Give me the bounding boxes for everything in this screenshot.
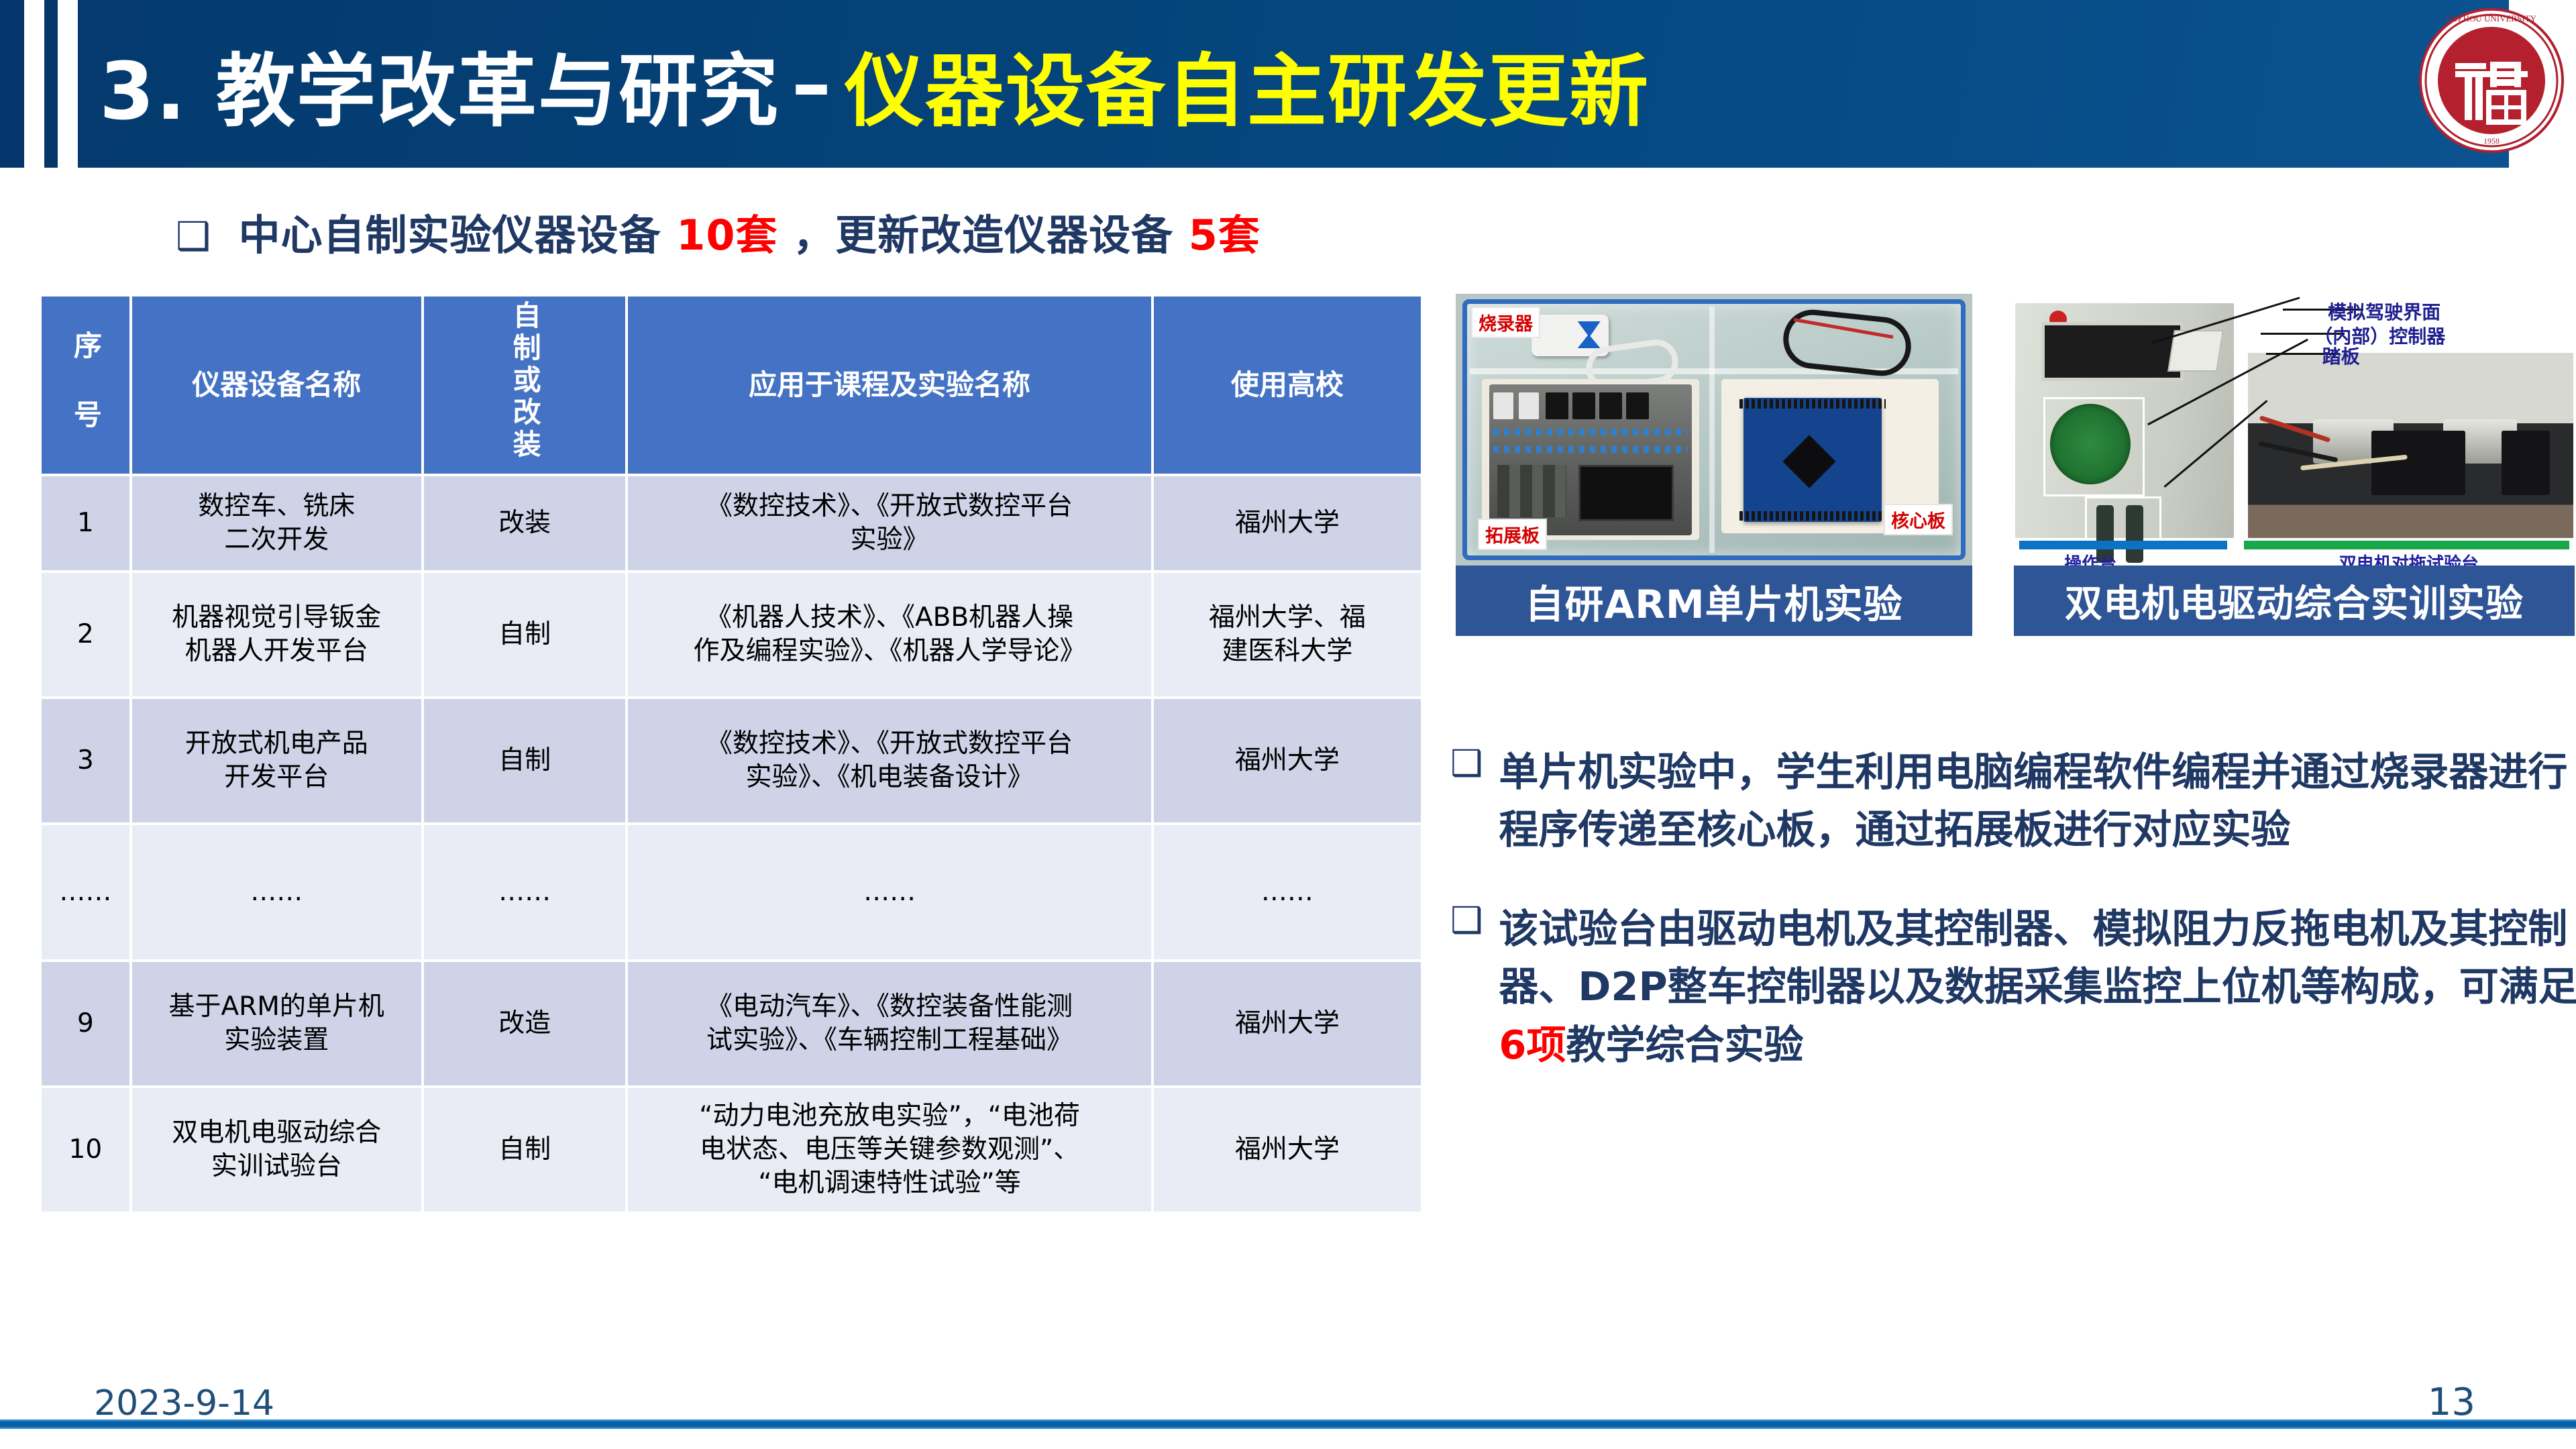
- figure-caption: 自研ARM单片机实验: [1456, 566, 1972, 636]
- slide-subheading: ❑ 中心自制实验仪器设备 10套 ，更新改造仪器设备 5套: [176, 201, 1260, 262]
- bullet-square-icon: ❑: [176, 213, 211, 259]
- cell-type: 自制: [424, 699, 626, 822]
- table-row: 10 双电机电驱动综合 实训试验台 自制 “动力电池充放电实验”，“电池荷 电状…: [42, 1088, 1421, 1212]
- svg-text:1958: 1958: [2483, 136, 2500, 146]
- led-row: [1493, 446, 1688, 453]
- console-underline-bar: [2019, 541, 2226, 549]
- seven-segment-display: [1519, 392, 1539, 419]
- bullet-text: 该试验台由驱动电机及其控制器、模拟阻力反拖电机及其控制器、D2P整车控制器以及数…: [1499, 900, 2576, 1073]
- cell-school: 福州大学: [1154, 962, 1421, 1085]
- cell-no: ……: [42, 825, 129, 959]
- cell-no: 3: [42, 699, 129, 822]
- title-topic: 仪器设备自主研发更新: [845, 27, 1650, 142]
- sublabel-bench: 双电机对拖试验台: [2339, 550, 2479, 566]
- case-divider: [1709, 307, 1715, 553]
- column-header-no: 序 号: [42, 297, 129, 474]
- figure-caption: 双电机电驱动综合实训实验: [2014, 566, 2575, 636]
- label-core-board: 核心板: [1884, 504, 1953, 535]
- seven-segment-display: [1626, 392, 1649, 419]
- cell-no: 1: [42, 476, 129, 570]
- footer-date: 2023-9-14: [94, 1383, 274, 1424]
- core-board: [1743, 398, 1882, 522]
- bullet-text-highlight: 6项: [1499, 1022, 1566, 1068]
- page-title: 3. 教学改革与研究 – 仪器设备自主研发更新: [99, 20, 2380, 148]
- bullet-text-main: 单片机实验中，学生利用电脑编程软件编程并通过烧录器进行程序传递至核心板，通过拓展…: [1499, 749, 2567, 853]
- operator-console: [2015, 303, 2234, 538]
- cell-school: 福州大学: [1154, 699, 1421, 822]
- table-row: 2 机器视觉引导钣金 机器人开发平台 自制 《机器人技术》、《ABB机器人操 作…: [42, 573, 1421, 696]
- label-programmer: 烧录器: [1471, 307, 1540, 338]
- fuzhou-university-logo-icon: FUZHOU UNIVERSITY 1958: [2416, 5, 2567, 158]
- coupling-flange: [2371, 431, 2420, 495]
- cell-school: 福州大学: [1154, 1088, 1421, 1212]
- cell-name: 双电机电驱动综合 实训试验台: [132, 1088, 421, 1212]
- cell-school: ……: [1154, 825, 1421, 959]
- cell-course: 《数控技术》、《开放式数控平台 实验》、《机电装备设计》: [628, 699, 1150, 822]
- cell-course: 《机器人技术》、《ABB机器人操 作及编程实验》、《机器人学导论》: [628, 573, 1150, 696]
- cell-no: 2: [42, 573, 129, 696]
- hmi-touch-screen: [2041, 322, 2184, 381]
- table-row-ellipsis: …… …… …… …… ……: [42, 825, 1421, 959]
- svg-text:FUZHOU UNIVERSITY: FUZHOU UNIVERSITY: [2447, 13, 2537, 23]
- bullet-text: 单片机实验中，学生利用电脑编程软件编程并通过烧录器进行程序传递至核心板，通过拓展…: [1499, 743, 2576, 859]
- cell-type: 自制: [424, 573, 626, 696]
- dual-motor-test-bench: [2248, 353, 2573, 538]
- bullet-text-tail: 教学综合实验: [1566, 1022, 1803, 1068]
- callout-label-pedal: 踏板: [2322, 342, 2360, 369]
- subheading-count-1: 10套: [676, 211, 777, 260]
- cell-type: ……: [424, 825, 626, 959]
- cell-course: “动力电池充放电实验”，“电池荷 电状态、电压等关键参数观测”、 “电机调速特性…: [628, 1088, 1150, 1212]
- header-accent-bar-inner: [44, 0, 58, 168]
- seven-segment-display: [1599, 392, 1622, 419]
- column-header-type: 自制或改装: [424, 297, 626, 474]
- figure-dual-motor-bench: 模拟驾驶界面 （内部）控制器 踏板 操作台 双电机对拖试验台 双电机电驱动综合实…: [2014, 294, 2575, 636]
- sublabel-console: 操作台: [2064, 550, 2116, 566]
- bullet-square-icon: ❑: [1450, 743, 1483, 784]
- led-row: [1493, 429, 1688, 435]
- footer-page-number: 13: [2428, 1381, 2475, 1424]
- cell-name: ……: [132, 825, 421, 959]
- seven-segment-display: [1572, 392, 1595, 419]
- notes-list: ❑ 单片机实验中，学生利用电脑编程软件编程并通过烧录器进行程序传递至核心板，通过…: [1450, 743, 2576, 1116]
- cell-course: 《数控技术》、《开放式数控平台 实验》: [628, 476, 1150, 570]
- table-row: 1 数控车、铣床 二次开发 改装 《数控技术》、《开放式数控平台 实验》 福州大…: [42, 476, 1421, 570]
- cell-type: 自制: [424, 1088, 626, 1212]
- column-header-course: 应用于课程及实验名称: [628, 297, 1150, 474]
- cell-name: 基于ARM的单片机 实验装置: [132, 962, 421, 1085]
- cell-school: 福州大学: [1154, 476, 1421, 570]
- cell-course: ……: [628, 825, 1150, 959]
- table-row: 3 开放式机电产品 开发平台 自制 《数控技术》、《开放式数控平台 实验》、《机…: [42, 699, 1421, 822]
- footer-divider: [0, 1419, 2576, 1429]
- seven-segment-display: [1493, 392, 1513, 419]
- column-header-name: 仪器设备名称: [132, 297, 421, 474]
- bullet-text-main: 该试验台由驱动电机及其控制器、模拟阻力反拖电机及其控制器、D2P整车控制器以及数…: [1499, 906, 2576, 1010]
- title-section: 3. 教学改革与研究: [99, 27, 780, 142]
- cell-school: 福州大学、福 建医科大学: [1154, 573, 1421, 696]
- slide: 3. 教学改革与研究 – 仪器设备自主研发更新 FUZHOU UNIVERSIT…: [0, 0, 2576, 1449]
- callout-label-hmi: 模拟驾驶界面: [2328, 298, 2440, 325]
- expansion-board: [1489, 384, 1692, 535]
- figure-arm-mcu-kit: 烧录器 拓展板 核心板 自研ARM单片机实验: [1456, 294, 1972, 636]
- bench-underline-bar: [2244, 541, 2569, 549]
- equipment-table: 序 号 仪器设备名称 自制或改装 应用于课程及实验名称 使用高校 1 数控车、铣…: [39, 294, 1424, 1214]
- bullet-square-icon: ❑: [1450, 900, 1483, 941]
- coupling-flange: [2417, 431, 2465, 495]
- table-row: 9 基于ARM的单片机 实验装置 改造 《电动汽车》、《数控装备性能测 试实验》…: [42, 962, 1421, 1085]
- cell-name: 机器视觉引导钣金 机器人开发平台: [132, 573, 421, 696]
- list-item: ❑ 单片机实验中，学生利用电脑编程软件编程并通过烧录器进行程序传递至核心板，通过…: [1450, 743, 2576, 859]
- seven-segment-display: [1546, 392, 1568, 419]
- cell-name: 开放式机电产品 开发平台: [132, 699, 421, 822]
- photo-arm-mcu-kit: 烧录器 拓展板 核心板: [1456, 294, 1972, 566]
- photo-dual-motor-bench: 模拟驾驶界面 （内部）控制器 踏板 操作台 双电机对拖试验台: [2014, 294, 2575, 566]
- mcu-chip: [1783, 435, 1836, 488]
- list-item: ❑ 该试验台由驱动电机及其控制器、模拟阻力反拖电机及其控制器、D2P整车控制器以…: [1450, 900, 2576, 1073]
- column-header-school: 使用高校: [1154, 297, 1421, 474]
- title-dash: –: [780, 38, 845, 130]
- controller-highlight-box: [2043, 397, 2145, 496]
- header-accent-bar-outer: [0, 0, 24, 168]
- cell-type: 改造: [424, 962, 626, 1085]
- button-pad: [1497, 465, 1566, 517]
- subheading-count-2: 5套: [1189, 211, 1260, 260]
- cell-no: 10: [42, 1088, 129, 1212]
- label-expansion-board: 拓展板: [1478, 519, 1547, 550]
- plastic-case: 烧录器 拓展板 核心板: [1462, 299, 1966, 560]
- coupling-flange: [2502, 431, 2550, 495]
- column-header-type-label: 自制或改装: [507, 301, 542, 462]
- cell-course: 《电动汽车》、《数控装备性能测 试实验》、《车辆控制工程基础》: [628, 962, 1150, 1085]
- subheading-part-1: 中心自制实验仪器设备: [239, 211, 661, 260]
- cell-name: 数控车、铣床 二次开发: [132, 476, 421, 570]
- subheading-part-2: ，更新改造仪器设备: [793, 211, 1173, 260]
- cell-type: 改装: [424, 476, 626, 570]
- pedal: [2126, 505, 2143, 563]
- column-header-no-label: 序 号: [68, 331, 103, 432]
- lcd-screen: [1578, 465, 1674, 521]
- table-header-row: 序 号 仪器设备名称 自制或改装 应用于课程及实验名称 使用高校: [42, 297, 1421, 474]
- cell-no: 9: [42, 962, 129, 1085]
